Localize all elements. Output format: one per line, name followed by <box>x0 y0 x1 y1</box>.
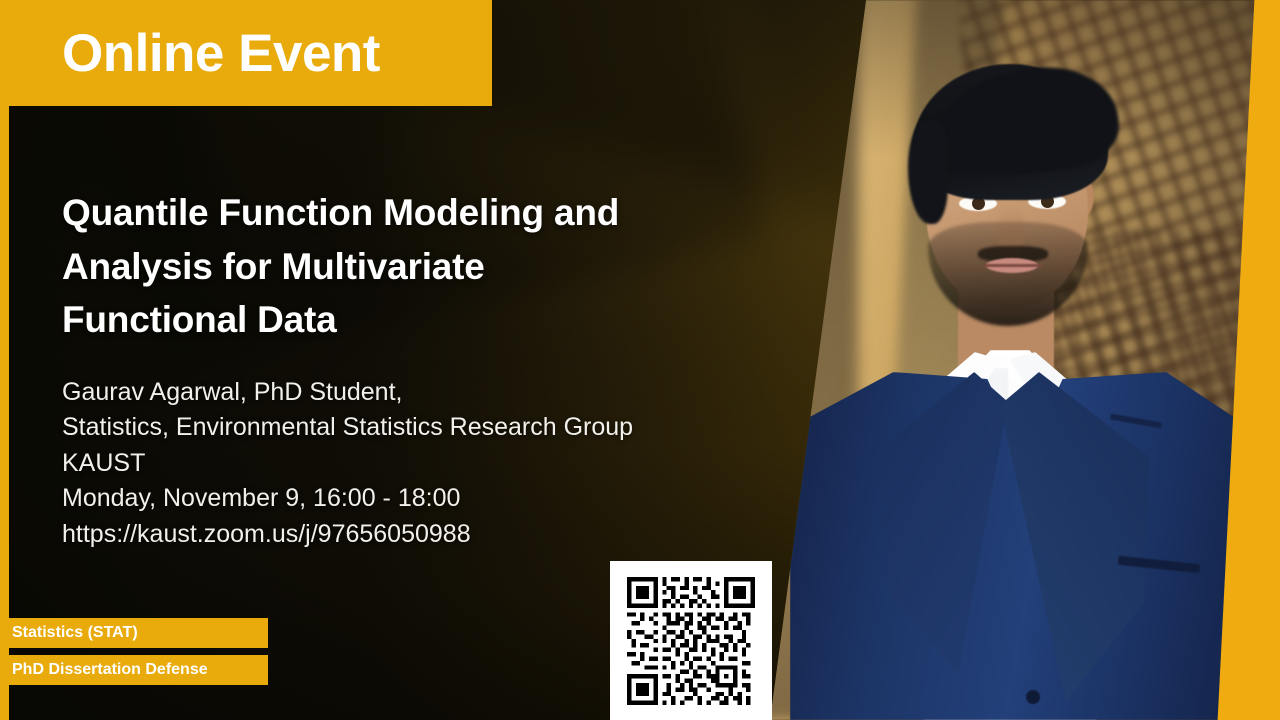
event-title-line-1: Quantile Function Modeling and <box>62 186 762 240</box>
online-event-label: Online Event <box>0 27 380 80</box>
online-event-banner: Online Event <box>0 0 492 106</box>
event-title: Quantile Function Modeling and Analysis … <box>62 186 762 347</box>
hair-sideburn <box>908 120 948 224</box>
badge-event-type[interactable]: PhD Dissertation Defense <box>0 655 268 685</box>
badge-department[interactable]: Statistics (STAT) <box>0 618 268 648</box>
category-badges: Statistics (STAT) PhD Dissertation Defen… <box>0 618 268 685</box>
event-title-line-3: Functional Data <box>62 293 762 347</box>
qr-code[interactable] <box>627 577 755 705</box>
speaker-affiliation: Statistics, Environmental Statistics Res… <box>62 410 762 446</box>
jacket-button <box>1026 690 1040 704</box>
lip-line <box>984 264 1042 267</box>
event-poster: Online Event Quantile Function Modeling … <box>0 0 1280 720</box>
speaker-institution: KAUST <box>62 446 762 482</box>
qr-code-panel[interactable] <box>610 561 772 720</box>
event-zoom-link[interactable]: https://kaust.zoom.us/j/97656050988 <box>62 517 762 553</box>
event-title-line-2: Analysis for Multivariate <box>62 240 762 294</box>
event-text-block: Quantile Function Modeling and Analysis … <box>62 186 762 552</box>
event-details: Gaurav Agarwal, PhD Student, Statistics,… <box>62 375 762 553</box>
left-gold-accent-strip <box>0 0 9 720</box>
event-datetime: Monday, November 9, 16:00 - 18:00 <box>62 481 762 517</box>
speaker-name: Gaurav Agarwal, PhD Student, <box>62 375 762 411</box>
